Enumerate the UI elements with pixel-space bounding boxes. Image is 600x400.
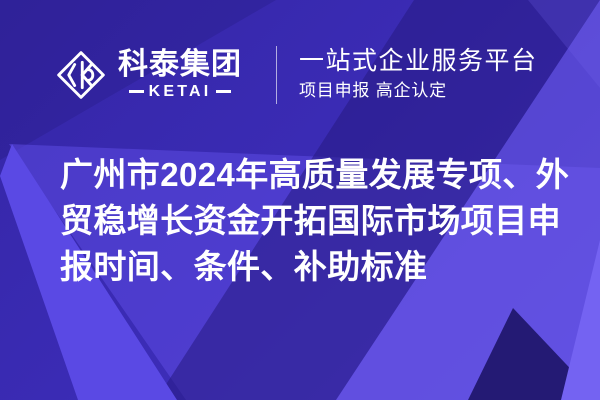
banner-header: 科泰集团 KETAI 一站式企业服务平台 项目申报 高企认定 bbox=[0, 36, 600, 114]
brand-dash-left-icon bbox=[129, 90, 144, 93]
header-vertical-divider bbox=[276, 46, 277, 104]
tagline-block: 一站式企业服务平台 项目申报 高企认定 bbox=[299, 47, 538, 103]
headline-line-1: 广州市2024年高质量发展专项、外 bbox=[60, 152, 552, 198]
tagline-sub: 项目申报 高企认定 bbox=[299, 80, 538, 103]
headline-line-2: 贸稳增长资金开拓国际市场项目申 bbox=[60, 198, 552, 244]
headline-line-3: 报时间、条件、补助标准 bbox=[60, 244, 552, 290]
brand-lockup: 科泰集团 KETAI bbox=[54, 48, 242, 102]
ketai-diamond-monogram-icon bbox=[54, 48, 108, 102]
brand-name-cn: 科泰集团 bbox=[118, 50, 242, 81]
headline: 广州市2024年高质量发展专项、外 贸稳增长资金开拓国际市场项目申 报时间、条件… bbox=[60, 152, 552, 290]
brand-name-en-row: KETAI bbox=[118, 84, 242, 100]
promo-banner: 科泰集团 KETAI 一站式企业服务平台 项目申报 高企认定 广州市2024年高… bbox=[0, 0, 600, 400]
brand-name-en: KETAI bbox=[149, 84, 212, 100]
brand-text-block: 科泰集团 KETAI bbox=[118, 50, 242, 100]
brand-dash-right-icon bbox=[216, 90, 231, 93]
tagline-main: 一站式企业服务平台 bbox=[299, 47, 538, 77]
